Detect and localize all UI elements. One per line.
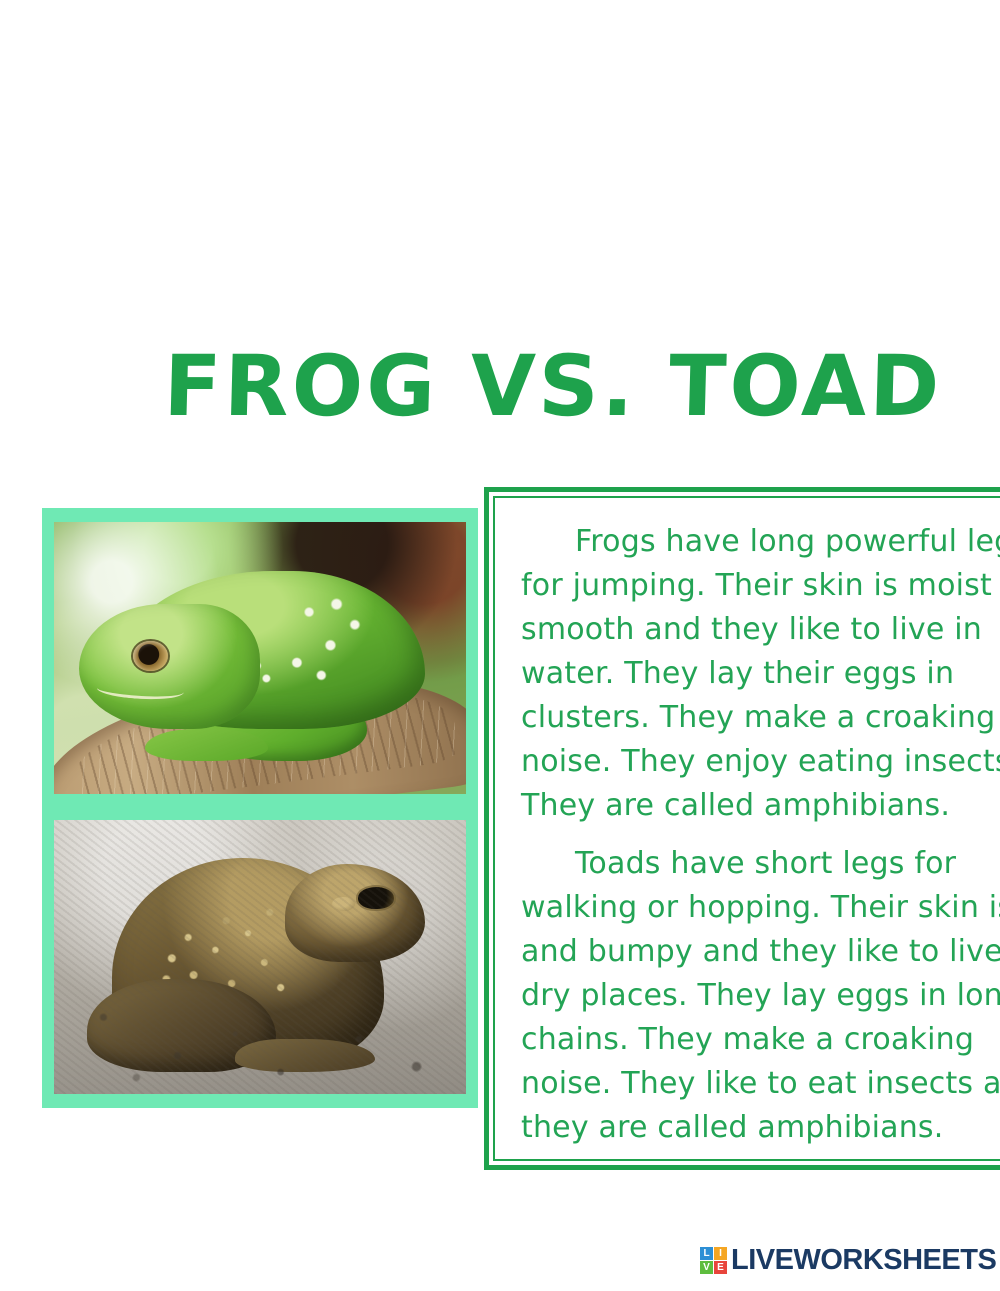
toad-body: [112, 858, 384, 1066]
logo-block-l: L: [700, 1247, 713, 1260]
toad-eye: [358, 887, 394, 909]
liveworksheets-wordmark: LIVEWORKSHEETS: [731, 1246, 996, 1275]
toad-head: [285, 864, 425, 963]
passage-textbox: Frogs have long powerful legs for jumpin…: [484, 487, 1000, 1170]
photo-column: [42, 508, 478, 1108]
passage-textbox-inner: Frogs have long powerful legs for jumpin…: [493, 496, 1000, 1161]
logo-block-i: I: [714, 1247, 727, 1260]
toad-warts: [112, 858, 384, 1066]
page-title: FROG VS. TOAD: [52, 344, 1000, 428]
passage-paragraph-toad: Toads have short legs for walking or hop…: [521, 842, 1000, 1150]
liveworksheets-mark-icon: L I V E: [700, 1247, 727, 1274]
frog-eye: [133, 641, 167, 671]
toad-foot: [235, 1039, 375, 1072]
frog-foot: [145, 729, 269, 762]
toad-parotoid-gland: [332, 897, 354, 911]
frog-photo-scene: [54, 522, 466, 794]
frog-photo: [54, 522, 466, 794]
toad-photo: [54, 820, 466, 1094]
toad-photo-scene: [54, 820, 466, 1094]
worksheet-page: FROG VS. TOAD: [0, 0, 1000, 1291]
frog-mouth: [96, 677, 184, 703]
passage-paragraph-frog: Frogs have long powerful legs for jumpin…: [521, 520, 1000, 828]
liveworksheets-logo: L I V E LIVEWORKSHEETS: [700, 1246, 996, 1275]
logo-block-e: E: [714, 1261, 727, 1274]
frog-head: [79, 604, 260, 729]
logo-block-v: V: [700, 1261, 713, 1274]
toad-hind-leg: [87, 979, 277, 1072]
